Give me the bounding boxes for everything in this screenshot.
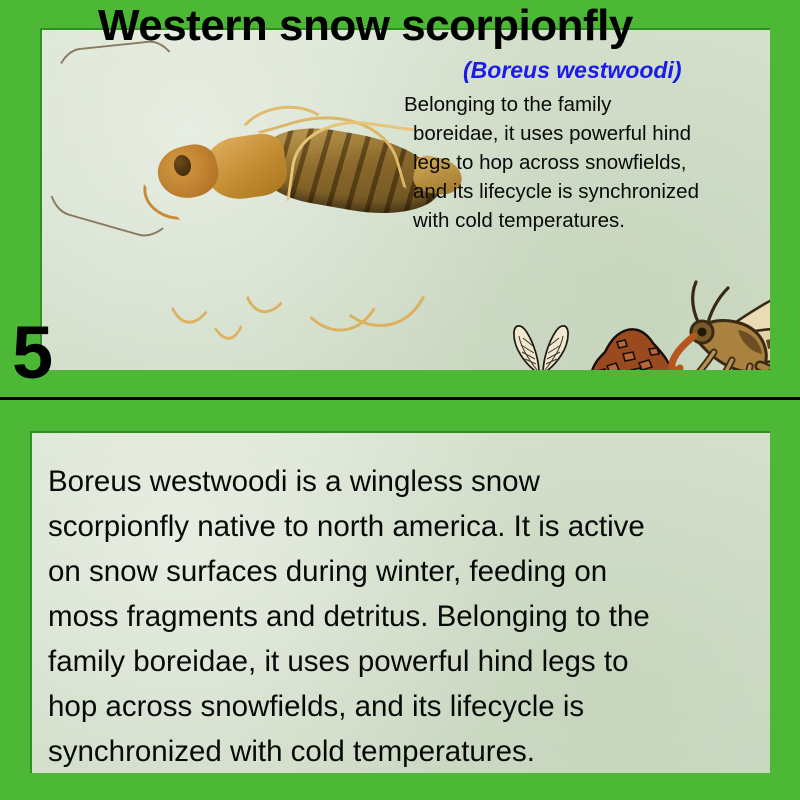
bottom-card: Boreus westwoodi is a wingless snow scor… <box>0 403 800 800</box>
description-line: moss fragments and detritus. Belonging t… <box>48 594 748 639</box>
summary-line: with cold temperatures. <box>404 206 772 235</box>
description-panel: Boreus westwoodi is a wingless snow scor… <box>30 431 770 773</box>
summary-line: and its lifecycle is synchronized <box>404 177 772 206</box>
description-line: family boreidae, it uses powerful hind l… <box>48 639 748 684</box>
description-line: on snow surfaces during winter, feeding … <box>48 549 748 594</box>
description-text: Boreus westwoodi is a wingless snow scor… <box>48 459 748 773</box>
description-line: synchronized with cold temperatures. <box>48 729 748 773</box>
summary-line: Belonging to the family <box>404 90 772 119</box>
card-index-number: 5 <box>12 316 53 390</box>
page-title: Western snow scorpionfly <box>98 1 633 51</box>
snow-scorpionfly-specimen-photo <box>46 48 396 348</box>
species-fact-card-poster: Western snow scorpionfly (Boreus westwoo… <box>0 0 800 800</box>
description-line: hop across snowfields, and its lifecycle… <box>48 684 748 729</box>
summary-line: legs to hop across snowfields, <box>404 148 772 177</box>
description-line: Boreus westwoodi is a wingless snow <box>48 459 748 504</box>
description-line: scorpionfly native to north america. It … <box>48 504 748 549</box>
summary-text: Belonging to the family boreidae, it use… <box>404 90 772 235</box>
summary-line: boreidae, it uses powerful hind <box>404 119 772 148</box>
top-card: Western snow scorpionfly (Boreus westwoo… <box>0 0 800 400</box>
scientific-name: (Boreus westwoodi) <box>463 57 682 84</box>
